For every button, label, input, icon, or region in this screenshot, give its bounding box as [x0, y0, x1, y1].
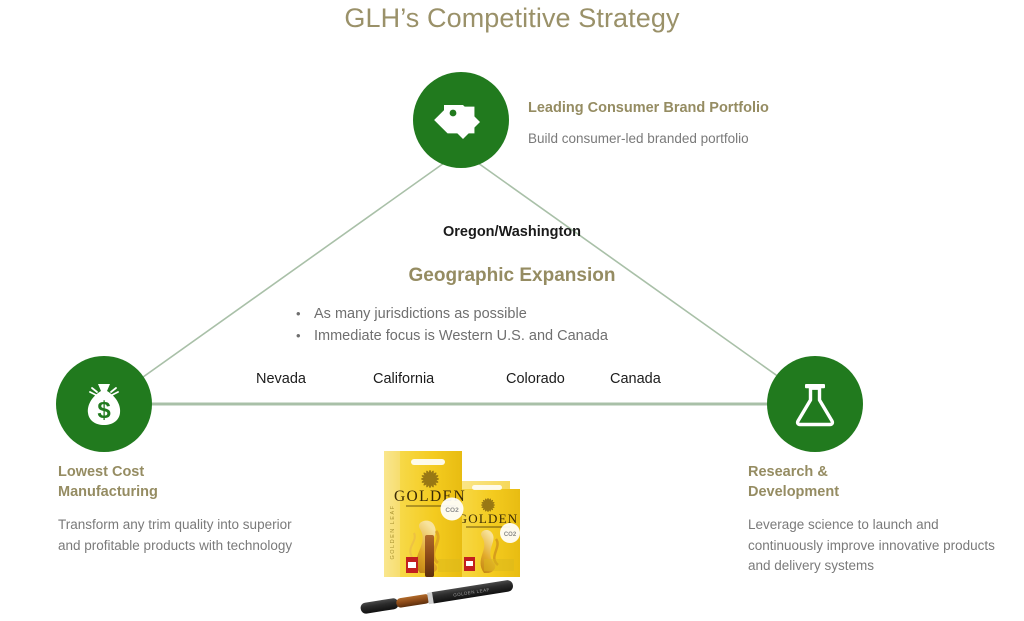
node-rd-circle[interactable]	[767, 356, 863, 452]
rd-title: Research & Development	[748, 462, 998, 502]
rd-text-block: Research & Development Leverage science …	[748, 462, 998, 577]
brand-description: Build consumer-led branded portfolio	[528, 129, 848, 150]
list-item: As many jurisdictions as possible	[292, 304, 752, 324]
geographic-expansion-bullets: As many jurisdictions as possible Immedi…	[292, 304, 752, 348]
node-brand-circle[interactable]	[413, 72, 509, 168]
brand-text-block: Leading Consumer Brand Portfolio Build c…	[528, 98, 848, 150]
price-tag-icon	[433, 92, 489, 148]
region-label-canada: Canada	[610, 371, 661, 387]
flask-icon	[787, 376, 843, 432]
list-item: Immediate focus is Western U.S. and Cana…	[292, 326, 752, 346]
node-cost-circle[interactable]: $	[56, 356, 152, 452]
svg-text:$: $	[97, 397, 111, 424]
region-label-nevada: Nevada	[256, 371, 306, 387]
slide-canvas: GLH’s Competitive Strategy Leading Consu…	[0, 0, 1024, 621]
geographic-expansion-heading: Geographic Expansion	[0, 265, 1024, 287]
cost-title: Lowest Cost Manufacturing	[58, 462, 298, 502]
cost-title-line-2: Manufacturing	[58, 482, 298, 502]
oregon-washington-label: Oregon/Washington	[0, 224, 1024, 240]
money-bag-icon: $	[76, 376, 132, 432]
cost-text-block: Lowest Cost Manufacturing Transform any …	[58, 462, 298, 556]
large-golden-box: GOLDEN GOLDEN LEAF CO2	[384, 451, 466, 577]
svg-text:GOLDEN LEAF: GOLDEN LEAF	[390, 504, 396, 559]
rd-title-line-1: Research &	[748, 462, 998, 482]
svg-text:CO2: CO2	[445, 507, 459, 514]
cost-description: Transform any trim quality into superior…	[58, 515, 298, 556]
rd-description: Leverage science to launch and continuou…	[748, 515, 998, 577]
rd-title-line-2: Development	[748, 482, 998, 502]
golden-vape-product-photo: GOLDEN CO2	[312, 437, 584, 621]
vape-pen: GOLDEN LEAF	[360, 579, 514, 614]
region-label-colorado: Colorado	[506, 371, 565, 387]
region-label-california: California	[373, 371, 434, 387]
svg-text:CO2: CO2	[504, 532, 517, 538]
brand-title: Leading Consumer Brand Portfolio	[528, 98, 848, 118]
cost-title-line-1: Lowest Cost	[58, 462, 298, 482]
